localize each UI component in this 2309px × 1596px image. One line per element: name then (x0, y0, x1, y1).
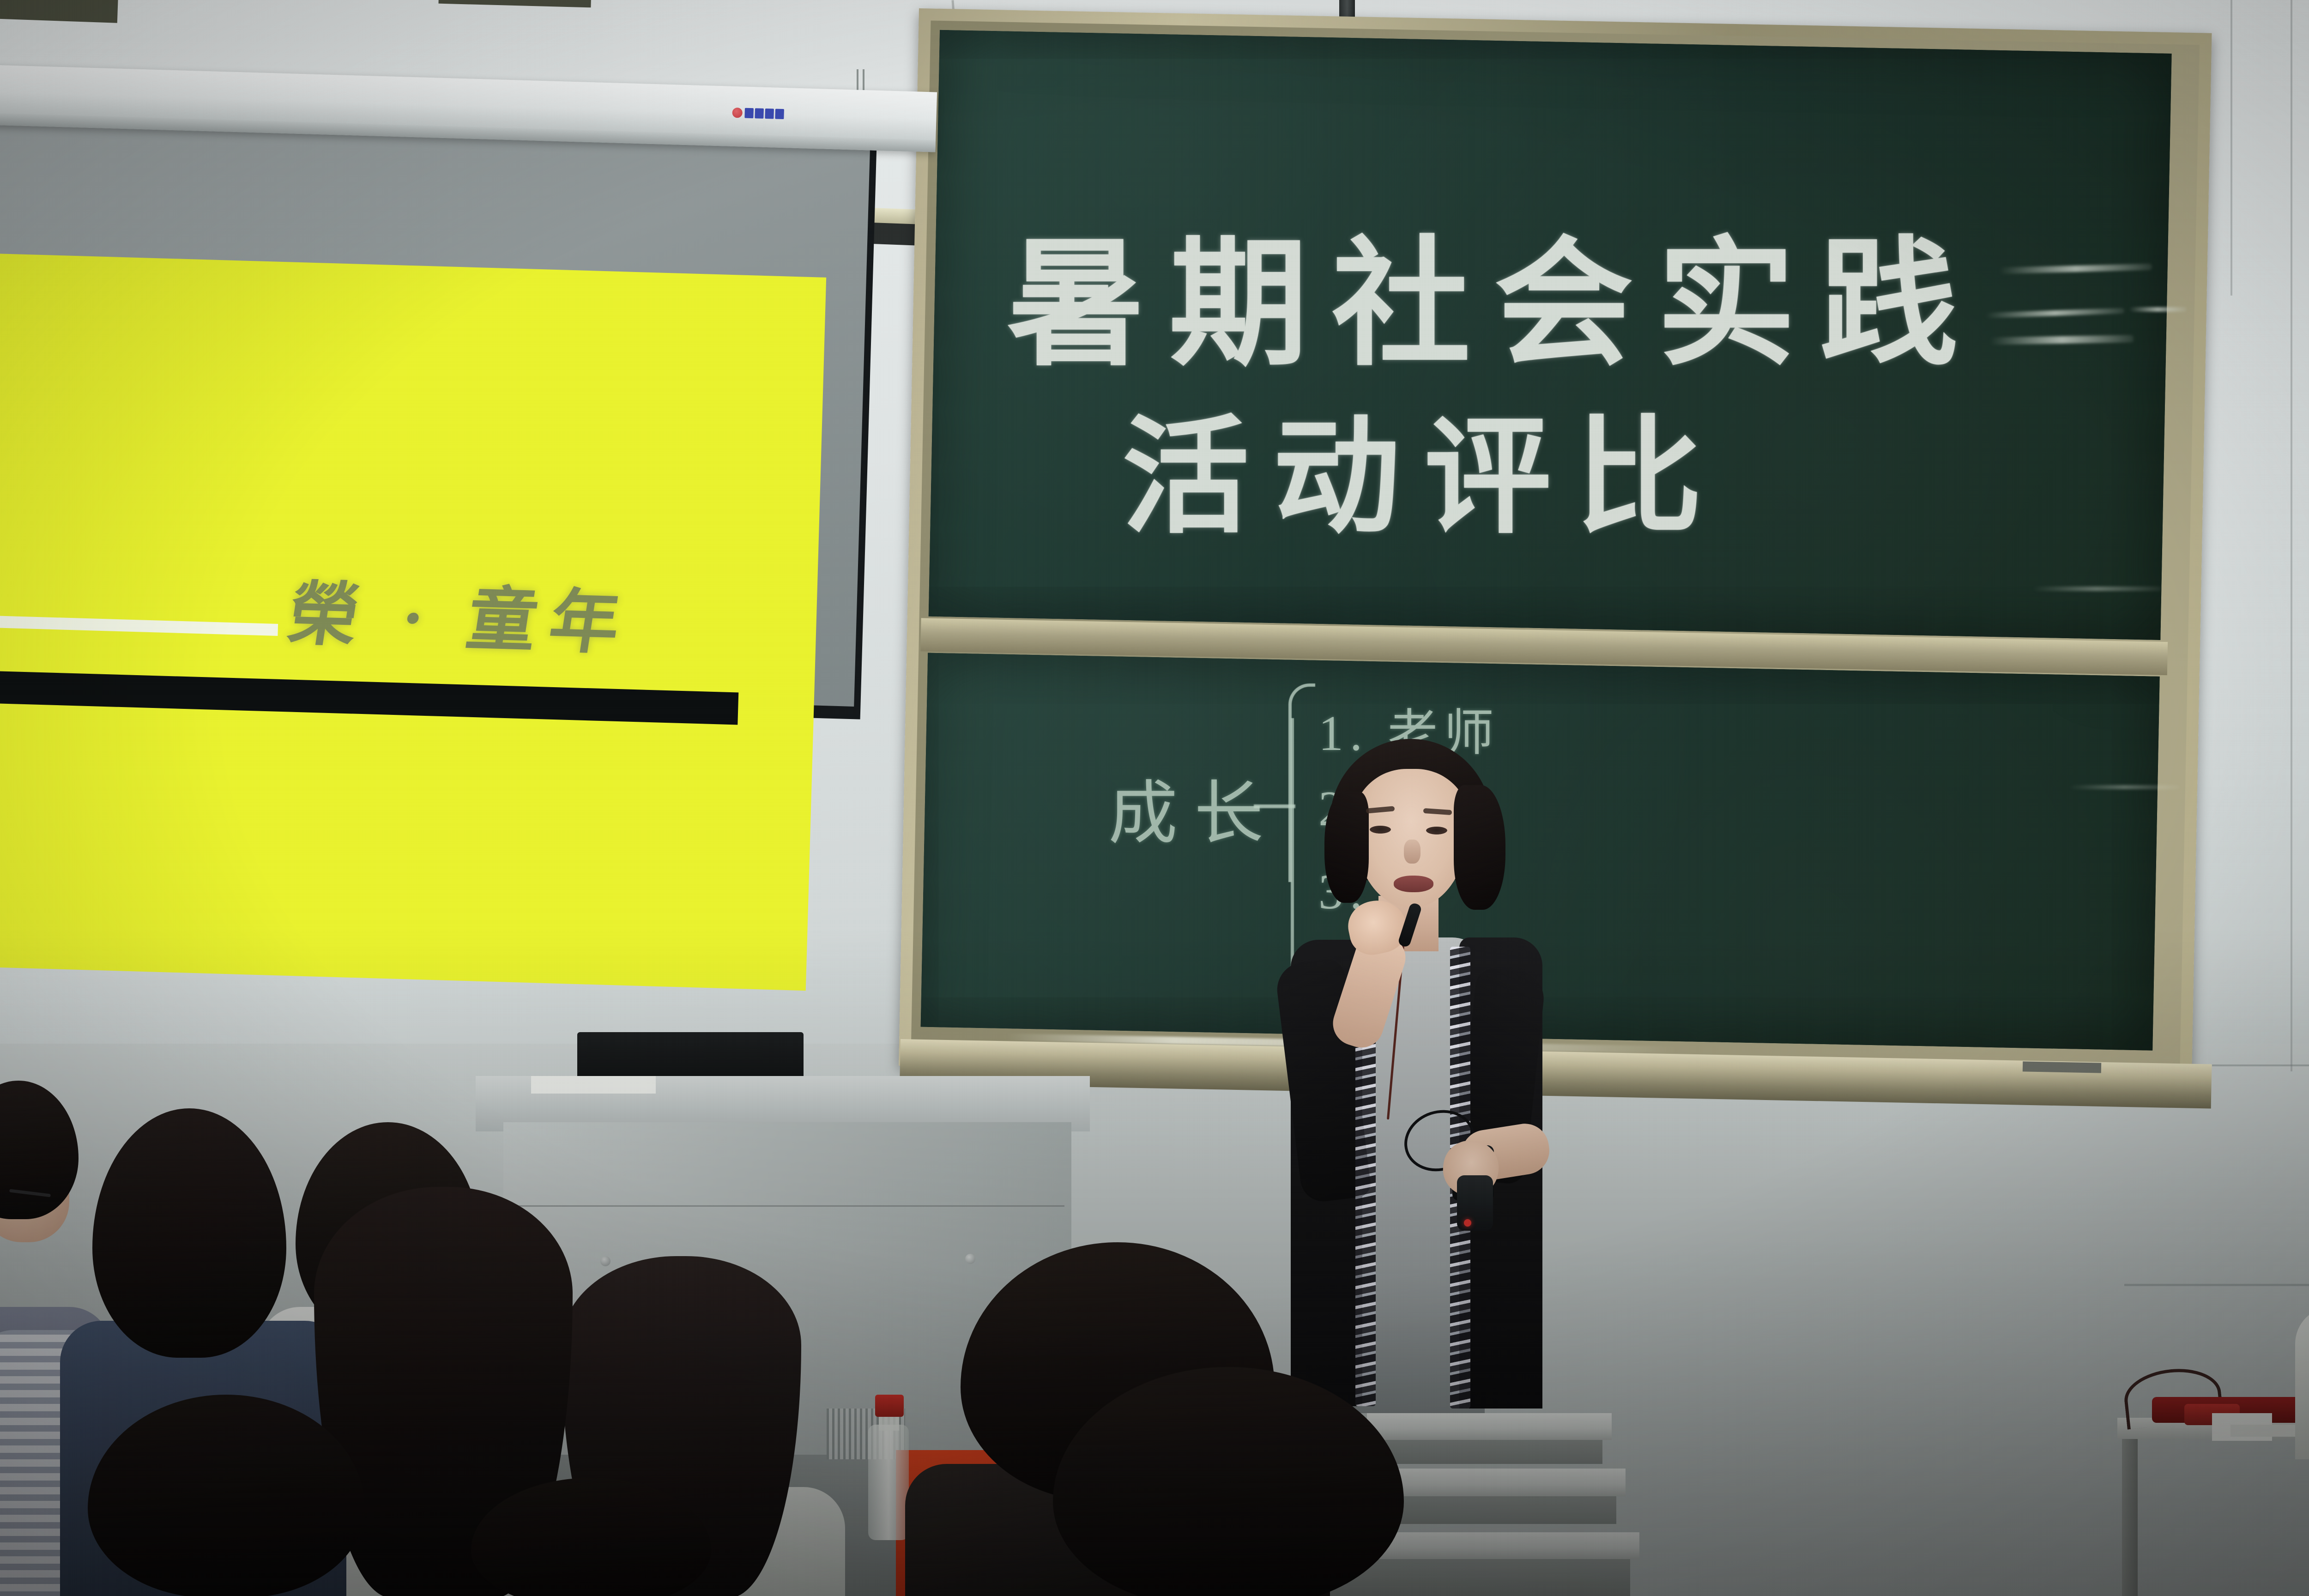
blackboard-brace-stem (1291, 718, 1294, 977)
presenter-nose (1404, 840, 1420, 864)
projected-slide: 榮 · 童年 (0, 252, 826, 991)
cabinet-screw-right (965, 1254, 975, 1264)
blackboard-title-line-1: 暑期社会实践 (1007, 192, 1982, 392)
chalk-smudge-5 (2032, 586, 2161, 591)
slide-title-text: 榮 · 童年 (283, 558, 641, 668)
presenter-hair-side-left (1324, 792, 1369, 903)
brand-mark-icon (732, 108, 743, 118)
blackboard-title-line-2: 活动评比 (1122, 374, 1726, 558)
presenter-remote-led-icon (1464, 1219, 1471, 1227)
brand-glyphs (744, 108, 784, 119)
wall-vseam-right (2291, 0, 2292, 1071)
platform-step-1 (1367, 1413, 1612, 1440)
podium-paper (531, 1076, 656, 1094)
presenter-lips (1394, 876, 1433, 892)
side-table-leg (2122, 1432, 2138, 1596)
presenter-remote[interactable] (1457, 1175, 1493, 1231)
water-bottle (868, 1425, 909, 1540)
chalk-smudge-4 (2129, 307, 2187, 312)
blackboard-eraser[interactable] (2023, 1061, 2101, 1073)
chalk-smudge-6 (2069, 785, 2180, 789)
slide-connector-line (0, 616, 278, 636)
wall-seam-lower (2124, 1284, 2309, 1286)
wall-vseam-right-2 (2230, 0, 2232, 296)
classroom-photo-scene: 暑期社会实践 活动评比 成长 1. 老师 2. 3. 榮 · 童年 (0, 0, 2309, 1596)
presenter-eye-left (1370, 826, 1391, 834)
cabinet-screw-left (600, 1256, 610, 1266)
wall-seam-right (2212, 1064, 2309, 1066)
projection-screen-brand-logo (732, 108, 784, 119)
water-bottle-cap (875, 1395, 904, 1417)
presenter-hair-side-right (1454, 785, 1505, 910)
presenter-eye-right (1426, 827, 1447, 834)
